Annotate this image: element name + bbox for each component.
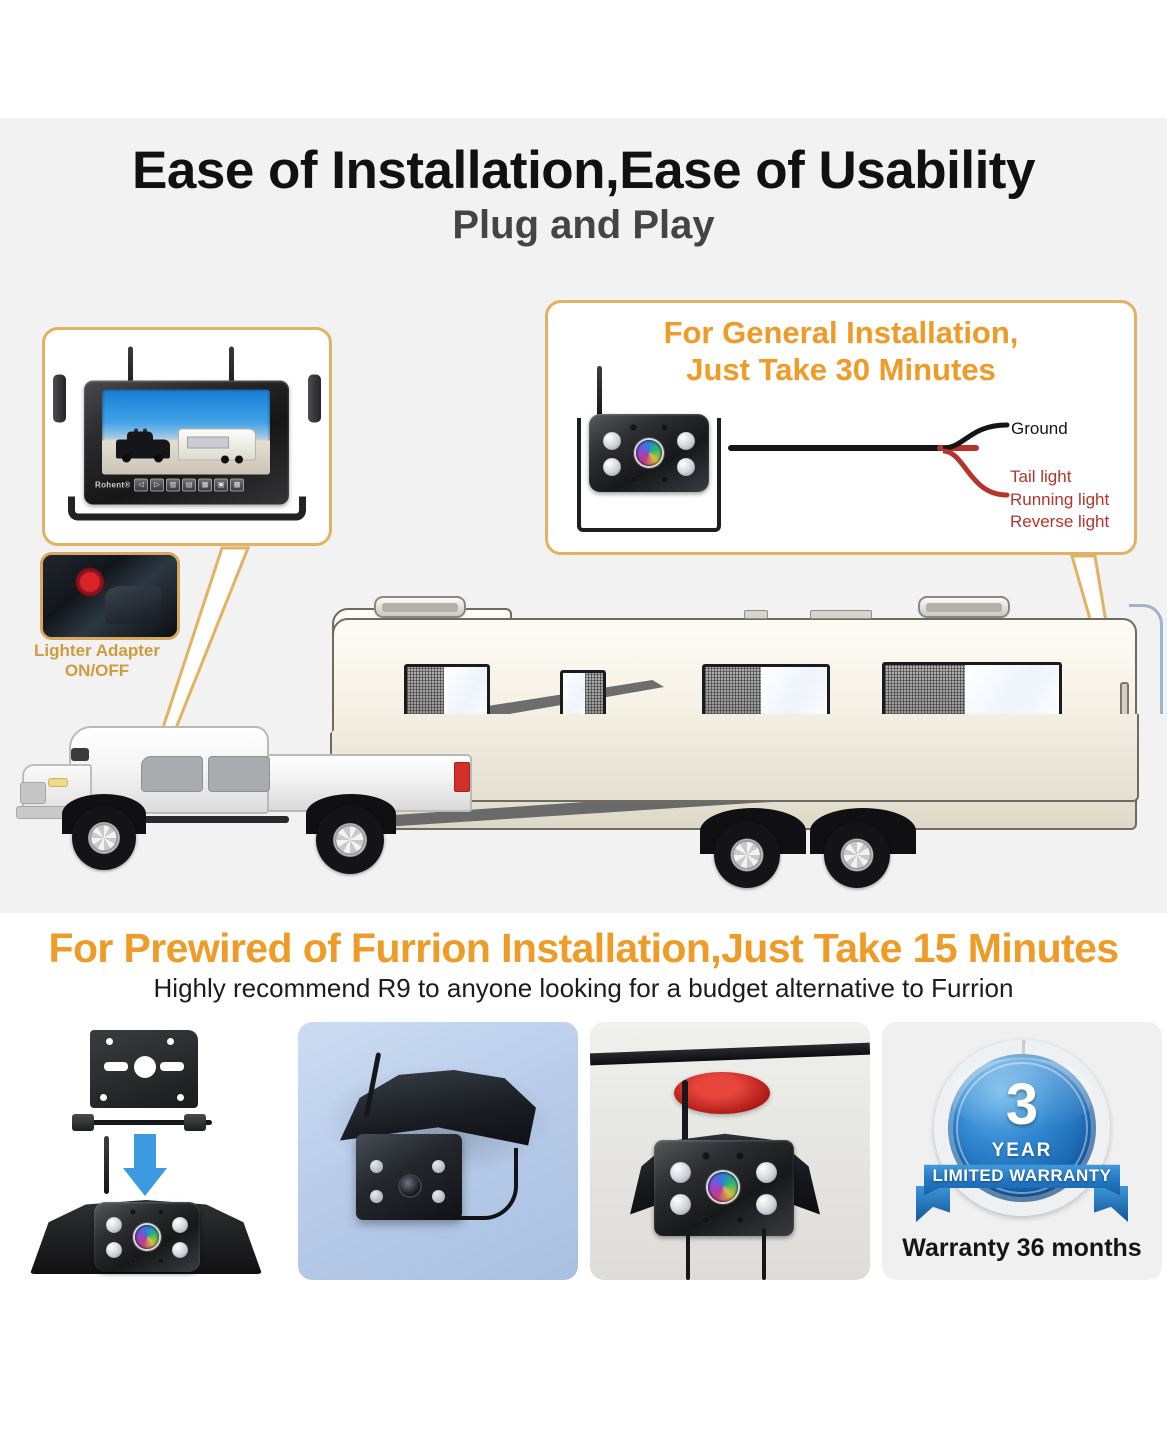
camera-led: [106, 1217, 122, 1233]
monitor-forward-button[interactable]: ▷: [150, 478, 164, 491]
monitor-callout: Rohent® ◁ ▷ ▥ ▤ ▦ ▣ ▩: [42, 327, 332, 546]
pickup-truck: [14, 708, 494, 868]
monitor-side-knob-right: [308, 374, 321, 422]
truck-rear-wheel: [316, 806, 384, 874]
warranty-seal: 3 YEAR LIMITED WARRANTY: [922, 1036, 1122, 1222]
camera-mount-bracket: [577, 418, 721, 532]
screen-truck-wheel: [122, 453, 131, 462]
camera-lens: [135, 1225, 159, 1249]
camera-led: [670, 1194, 691, 1215]
camera-led: [670, 1162, 691, 1183]
camera-led: [756, 1162, 777, 1183]
camera-ir-led: [736, 1216, 744, 1224]
monitor-menu-button[interactable]: ▩: [230, 478, 244, 491]
truck-tail-light: [454, 762, 470, 792]
photo-camera-led: [432, 1160, 445, 1173]
camera-antenna: [597, 366, 602, 418]
truck-and-trailer-illustration: [0, 580, 1167, 900]
screen-truck-wheel: [154, 453, 163, 462]
photo-camera-led: [370, 1190, 383, 1203]
camera-body: [94, 1202, 200, 1272]
warranty-caption: Warranty 36 months: [882, 1234, 1162, 1263]
camera-led: [172, 1217, 188, 1233]
rv-roof-trim: [590, 1043, 870, 1066]
monitor-stand-bracket: [68, 496, 306, 520]
screen-trailer-wheel: [235, 455, 243, 463]
bracket-screw-hole: [100, 1094, 107, 1101]
monitor-button-row: ◁ ▷ ▥ ▤ ▦ ▣ ▩: [134, 478, 244, 491]
camera-ir-led: [130, 1258, 136, 1264]
screen-truck: [116, 439, 170, 458]
bracket-slot: [160, 1062, 184, 1071]
wire-label-reverse-light: Reverse light: [1010, 512, 1109, 532]
assembly-diagram-card: [6, 1022, 286, 1280]
install-photo-wall: [590, 1022, 870, 1280]
camera-ir-led: [702, 1152, 710, 1160]
camera-ir-led: [158, 1209, 164, 1215]
monitor-camera1-button[interactable]: ▥: [166, 478, 180, 491]
photo-camera-led: [370, 1160, 383, 1173]
camera-lens: [708, 1172, 738, 1202]
wire-label-tail-light: Tail light: [1010, 467, 1071, 487]
install-photo-underside: [298, 1022, 578, 1280]
backup-camera-device: [573, 366, 743, 538]
camera-ir-led: [158, 1258, 164, 1264]
furrion-subheading: Highly recommend R9 to anyone looking fo…: [0, 973, 1167, 1004]
monitor-device: Rohent® ◁ ▷ ▥ ▤ ▦ ▣ ▩: [62, 344, 312, 529]
trailer-wheel: [714, 822, 780, 888]
camera-ir-led: [736, 1152, 744, 1160]
badge-ribbon-tail-left: [916, 1186, 950, 1222]
camera-led: [172, 1242, 188, 1258]
badge-ribbon-tail-right: [1094, 1186, 1128, 1222]
badge-ribbon-text: LIMITED WARRANTY: [922, 1166, 1122, 1186]
truck-side-mirror: [71, 748, 89, 761]
monitor-screen: [102, 389, 270, 474]
truck-front-window: [141, 756, 203, 792]
assembly-camera-device: [88, 1188, 206, 1274]
camera-body: [654, 1140, 794, 1236]
truck-rear-window: [208, 756, 270, 792]
trailer-wheel: [824, 822, 890, 888]
camera-led: [106, 1242, 122, 1258]
trailer-ac-unit: [918, 596, 1010, 618]
badge-year-number: 3: [922, 1076, 1122, 1134]
trailer-roof-vent: [810, 610, 872, 619]
photo-camera-antenna: [682, 1080, 688, 1142]
cable-plug-left: [72, 1114, 94, 1131]
monitor-brand-label: Rohent®: [95, 480, 131, 489]
camera-ir-led: [130, 1209, 136, 1215]
monitor-camera3-button[interactable]: ▦: [198, 478, 212, 491]
monitor-body: Rohent® ◁ ▷ ▥ ▤ ▦ ▣ ▩: [84, 380, 289, 504]
general-installation-callout: For General Installation, Just Take 30 M…: [545, 300, 1137, 555]
trailer-rear-corner-cable: [1129, 604, 1163, 714]
install-heading-line1: For General Installation,: [664, 315, 1019, 350]
truck-front-wheel: [72, 806, 136, 870]
photo-camera-lens: [400, 1176, 420, 1196]
photo-camera-cable: [686, 1234, 690, 1280]
trailer-roof-vent: [744, 610, 768, 619]
bracket-slot: [104, 1062, 128, 1071]
mounting-bracket-plate: [90, 1030, 198, 1108]
truck-grille: [20, 782, 46, 804]
photo-camera-led: [432, 1190, 445, 1203]
monitor-split-view-button[interactable]: ▣: [214, 478, 228, 491]
warranty-badge-card: 3 YEAR LIMITED WARRANTY Warranty 36 mont…: [882, 1022, 1162, 1280]
red-marker-light: [674, 1072, 770, 1114]
camera-ir-led: [702, 1216, 710, 1224]
monitor-camera2-button[interactable]: ▤: [182, 478, 196, 491]
camera-led: [756, 1194, 777, 1215]
screen-trailer: [178, 428, 256, 460]
furrion-heading: For Prewired of Furrion Installation,Jus…: [0, 925, 1167, 972]
bracket-screw-hole: [167, 1038, 174, 1045]
photo-camera-cable: [762, 1228, 766, 1280]
badge-year-word: YEAR: [922, 1140, 1122, 1162]
screen-trailer-wheel: [221, 455, 229, 463]
wire-label-running-light: Running light: [1010, 490, 1109, 510]
cable-plug-right: [184, 1114, 206, 1131]
bracket-screw-hole: [177, 1094, 184, 1101]
photo-camera-device: [654, 1140, 794, 1236]
camera-power-wire: [728, 445, 950, 451]
assembly-arrow-shaft: [134, 1134, 156, 1170]
monitor-side-knob-left: [53, 374, 66, 422]
truck-headlight: [48, 778, 68, 787]
trailer-ac-unit: [374, 596, 466, 618]
bracket-screw-hole: [106, 1038, 113, 1045]
photo-camera-cable: [450, 1148, 518, 1220]
photo-camera-body: [356, 1134, 462, 1220]
monitor-back-button[interactable]: ◁: [134, 478, 148, 491]
infographic-page: Ease of Installation,Ease of Usability P…: [0, 0, 1167, 1440]
camera-antenna: [104, 1136, 109, 1194]
wire-label-ground: Ground: [1011, 419, 1068, 439]
